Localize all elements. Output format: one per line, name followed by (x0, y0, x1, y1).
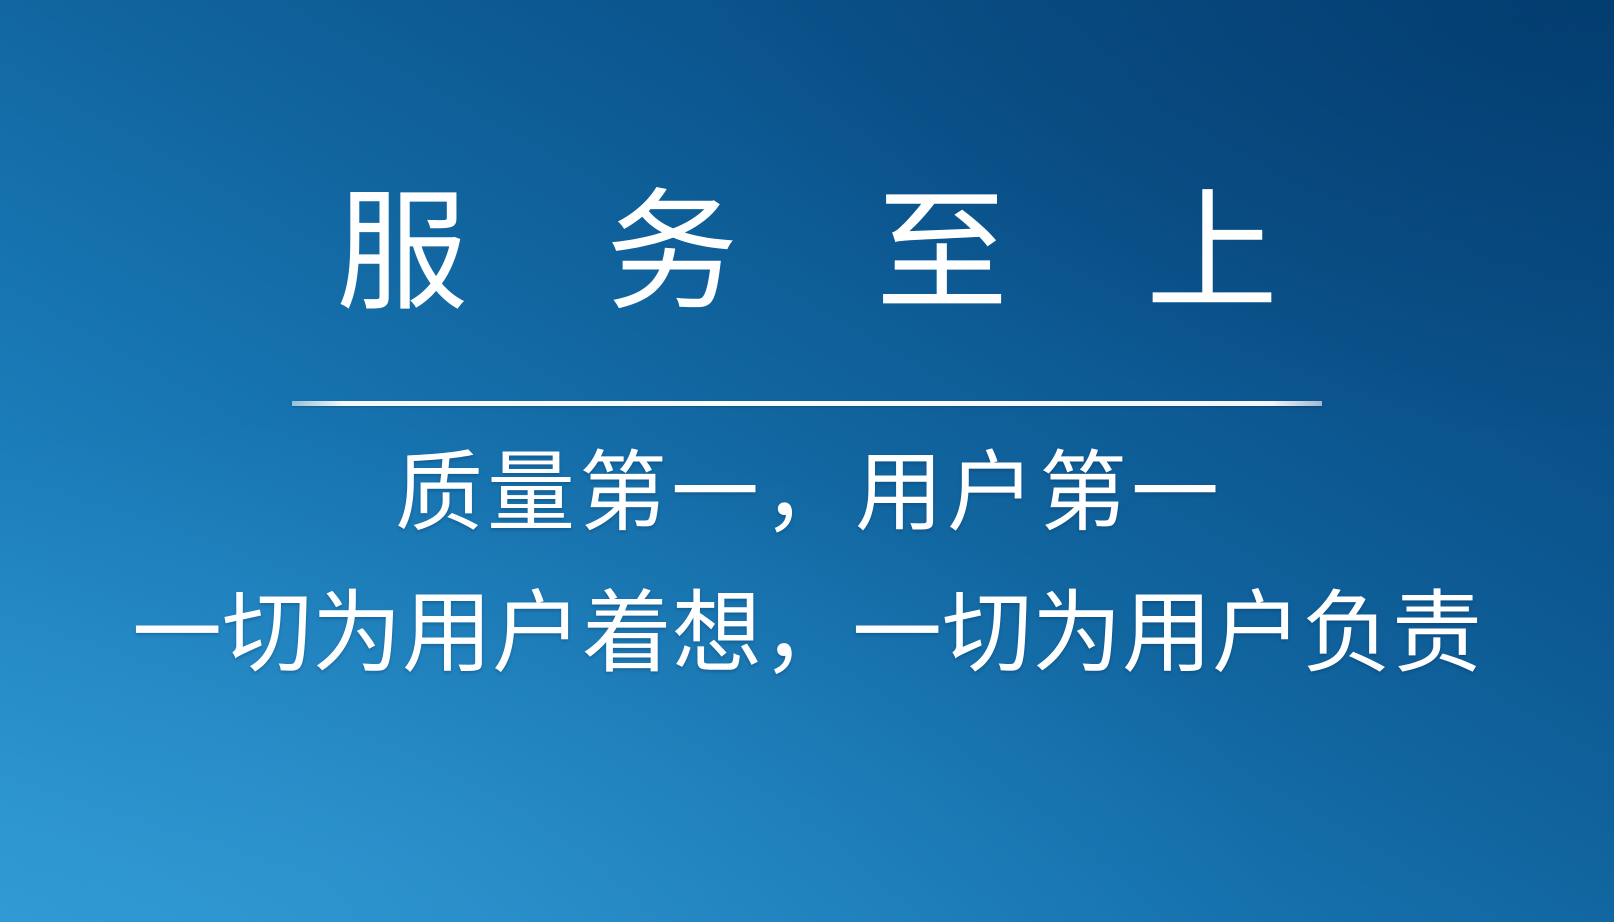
page-title: 服 务 至 上 (0, 185, 1614, 322)
subtitle-line-2: 一切为用户着想，一切为用户负责 (0, 587, 1614, 682)
subtitle-line-1: 质量第一，用户第一 (0, 447, 1614, 539)
title-divider (292, 401, 1322, 406)
poster-canvas: 服 务 至 上 质量第一，用户第一 一切为用户着想，一切为用户负责 (0, 0, 1614, 922)
divider-container (0, 401, 1614, 406)
poster-content: 服 务 至 上 质量第一，用户第一 一切为用户着想，一切为用户负责 (0, 0, 1614, 922)
